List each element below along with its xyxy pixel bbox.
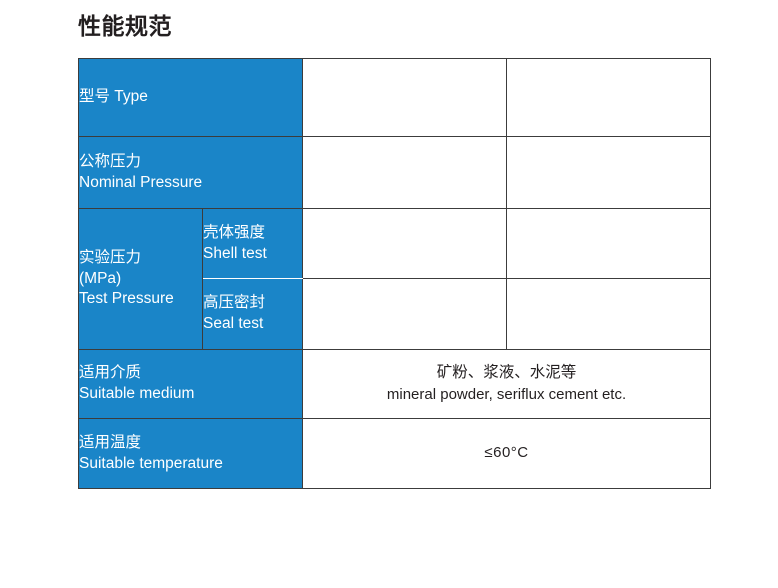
row-label-test-pressure-cn: 实验压力 [79, 248, 202, 269]
performance-specification-table: 型号 Type 公称压力 Nominal Pressure 实验压力 (MPa)… [78, 58, 711, 489]
suitable-medium-value-en: mineral powder, seriflux cement etc. [303, 384, 710, 407]
row-label-seal-test: 高压密封 Seal test [203, 279, 303, 350]
suitable-medium-value-cn: 矿粉、浆液、水泥等 [303, 361, 710, 384]
table-row: 型号 Type [79, 59, 711, 137]
page-title: 性能规范 [78, 13, 172, 41]
row-label-test-pressure-en: Test Pressure [79, 289, 202, 310]
seal-test-value-right [507, 279, 711, 350]
table-row: 适用介质 Suitable medium 矿粉、浆液、水泥等 mineral p… [79, 350, 711, 419]
nominal-pressure-value-left [303, 137, 507, 209]
row-label-suitable-medium-cn: 适用介质 [79, 363, 302, 384]
row-label-seal-test-en: Seal test [203, 314, 302, 335]
row-label-test-pressure: 实验压力 (MPa) Test Pressure [79, 209, 203, 350]
table-row: 公称压力 Nominal Pressure [79, 137, 711, 209]
shell-test-value-right [507, 209, 711, 279]
table-row: 实验压力 (MPa) Test Pressure 壳体强度 Shell test [79, 209, 711, 279]
row-label-test-pressure-unit: (MPa) [79, 269, 202, 290]
type-value-left [303, 59, 507, 137]
nominal-pressure-value-right [507, 137, 711, 209]
suitable-temperature-value-text: ≤60°C [484, 444, 528, 461]
row-label-shell-test: 壳体强度 Shell test [203, 209, 303, 279]
type-value-right [507, 59, 711, 137]
suitable-medium-value: 矿粉、浆液、水泥等 mineral powder, seriflux cemen… [303, 350, 711, 419]
row-label-seal-test-cn: 高压密封 [203, 293, 302, 314]
row-label-suitable-temperature: 适用温度 Suitable temperature [79, 419, 303, 489]
row-label-shell-test-en: Shell test [203, 244, 302, 265]
row-label-suitable-medium: 适用介质 Suitable medium [79, 350, 303, 419]
row-label-suitable-temperature-en: Suitable temperature [79, 454, 302, 475]
row-label-nominal-pressure-en: Nominal Pressure [79, 173, 302, 194]
shell-test-value-left [303, 209, 507, 279]
suitable-temperature-value: ≤60°C [303, 419, 711, 489]
row-label-shell-test-cn: 壳体强度 [203, 223, 302, 244]
table-row: 适用温度 Suitable temperature ≤60°C [79, 419, 711, 489]
row-label-nominal-pressure-cn: 公称压力 [79, 152, 302, 173]
row-label-type: 型号 Type [79, 59, 303, 137]
row-label-type-text: 型号 Type [79, 87, 302, 108]
row-label-suitable-temperature-cn: 适用温度 [79, 433, 302, 454]
row-label-nominal-pressure: 公称压力 Nominal Pressure [79, 137, 303, 209]
seal-test-value-left [303, 279, 507, 350]
row-label-suitable-medium-en: Suitable medium [79, 384, 302, 405]
